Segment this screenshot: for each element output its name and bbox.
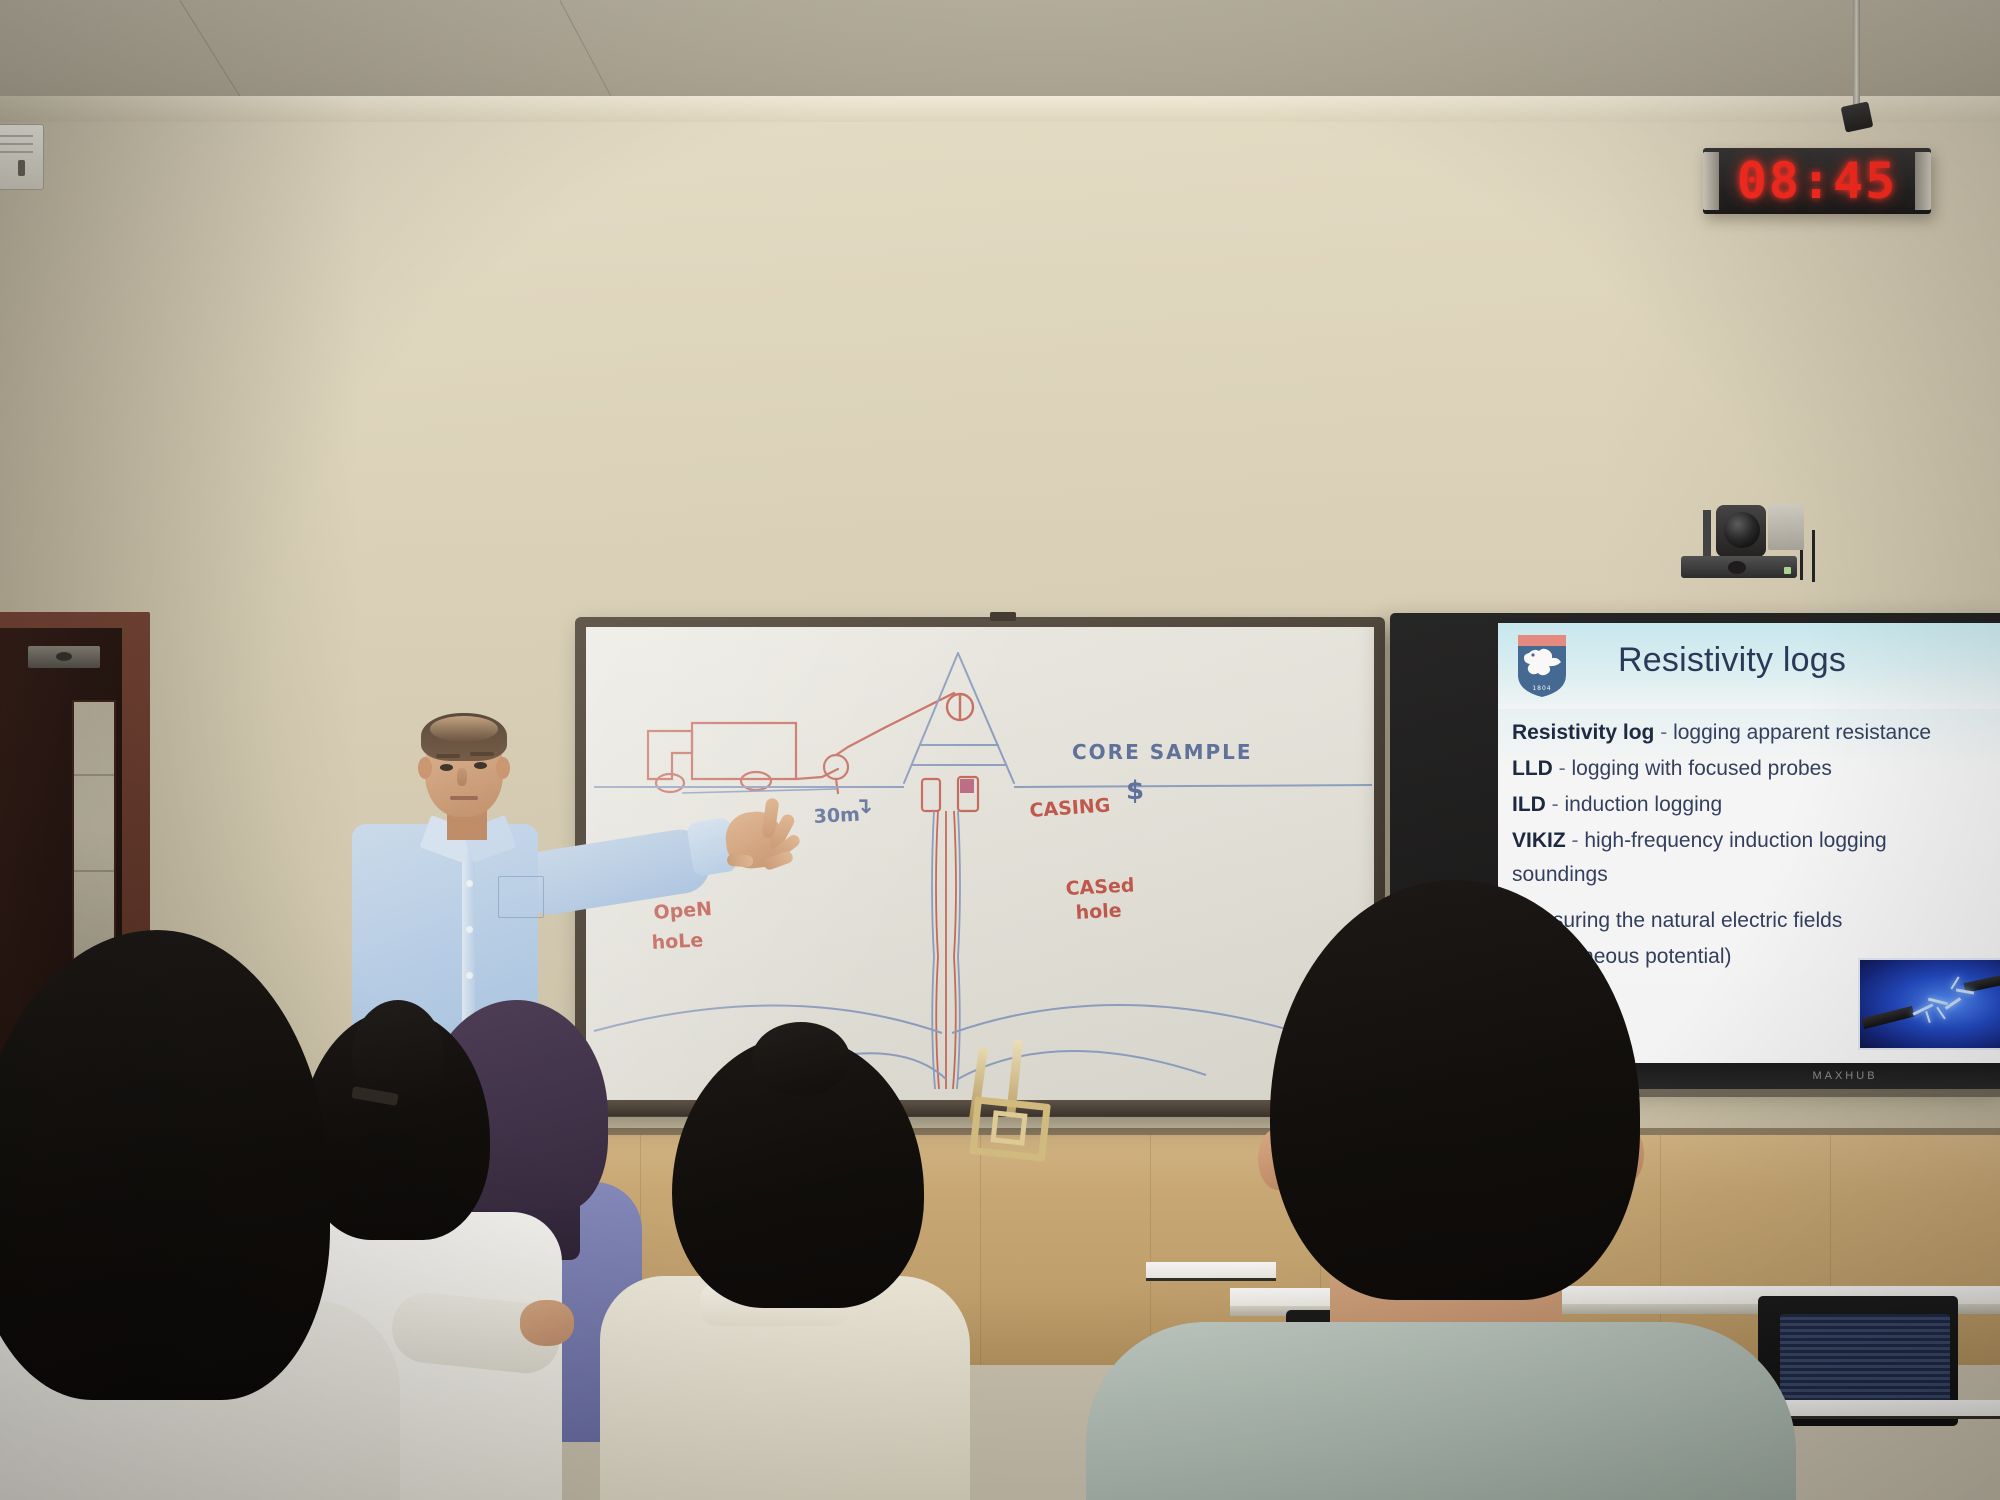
door-closer-dot bbox=[56, 652, 72, 661]
instructor-brow-right bbox=[470, 752, 494, 756]
front-right-student-body bbox=[1086, 1322, 1796, 1500]
shirt-button-2 bbox=[466, 926, 473, 933]
instructor-nose bbox=[457, 768, 467, 786]
electric-spark-image bbox=[1858, 958, 2000, 1050]
slide-line-5: soundings bbox=[1512, 863, 1608, 887]
camera-side-module bbox=[1768, 504, 1804, 550]
instructor-eye-right bbox=[474, 762, 487, 769]
slide-line-3: ILD - induction logging bbox=[1512, 793, 1722, 817]
instructor-shirt-pocket bbox=[498, 876, 544, 918]
whiteboard-top-clip bbox=[990, 612, 1016, 621]
clock-time-display: 08:45 bbox=[1722, 152, 1912, 210]
desk-mid-right bbox=[1146, 1262, 1276, 1281]
shirt-button-3 bbox=[466, 972, 473, 979]
chair-mesh-right bbox=[1780, 1314, 1950, 1406]
clock-end-cap-right bbox=[1915, 152, 1931, 210]
shirt-button-1 bbox=[466, 880, 473, 887]
center-student-bun bbox=[752, 1022, 850, 1096]
slide-line-1: Resistivity log - logging apparent resis… bbox=[1512, 721, 1931, 745]
instructor-ear-left bbox=[418, 757, 432, 779]
camera-cable-2 bbox=[1812, 530, 1815, 582]
instructor-eye-left bbox=[440, 764, 453, 771]
thumb bbox=[727, 854, 754, 868]
wall-device-knob bbox=[18, 160, 25, 176]
classroom-scene: 08:45 bbox=[0, 0, 2000, 1500]
instructor-forehead bbox=[430, 716, 498, 742]
slide-line-4: VIKIZ - high-frequency induction logging bbox=[1512, 829, 1887, 853]
display-brand-label: MAXHUB bbox=[1790, 1070, 1900, 1082]
clock-end-cap-left bbox=[1703, 152, 1719, 210]
instructor-ear-right bbox=[496, 757, 510, 779]
hair-clip-tongue bbox=[990, 1110, 1027, 1145]
glasses-student-hand bbox=[520, 1300, 574, 1346]
slide-title: Resistivity logs bbox=[1618, 641, 1998, 680]
camera-mount-sensor bbox=[1728, 561, 1746, 574]
instructor-mouth bbox=[450, 796, 478, 800]
clock-suspension-rod bbox=[1853, 0, 1860, 112]
camera-lens-icon bbox=[1724, 512, 1760, 548]
camera-arm bbox=[1703, 510, 1711, 558]
slide-line-2: LLD - logging with focused probes bbox=[1512, 757, 1832, 781]
svg-text:1804: 1804 bbox=[1532, 685, 1551, 692]
wall-mounted-device bbox=[0, 124, 44, 190]
camera-status-led bbox=[1784, 567, 1791, 574]
university-crest-icon: 1804 bbox=[1516, 633, 1568, 699]
instructor-brow-left bbox=[436, 754, 460, 758]
